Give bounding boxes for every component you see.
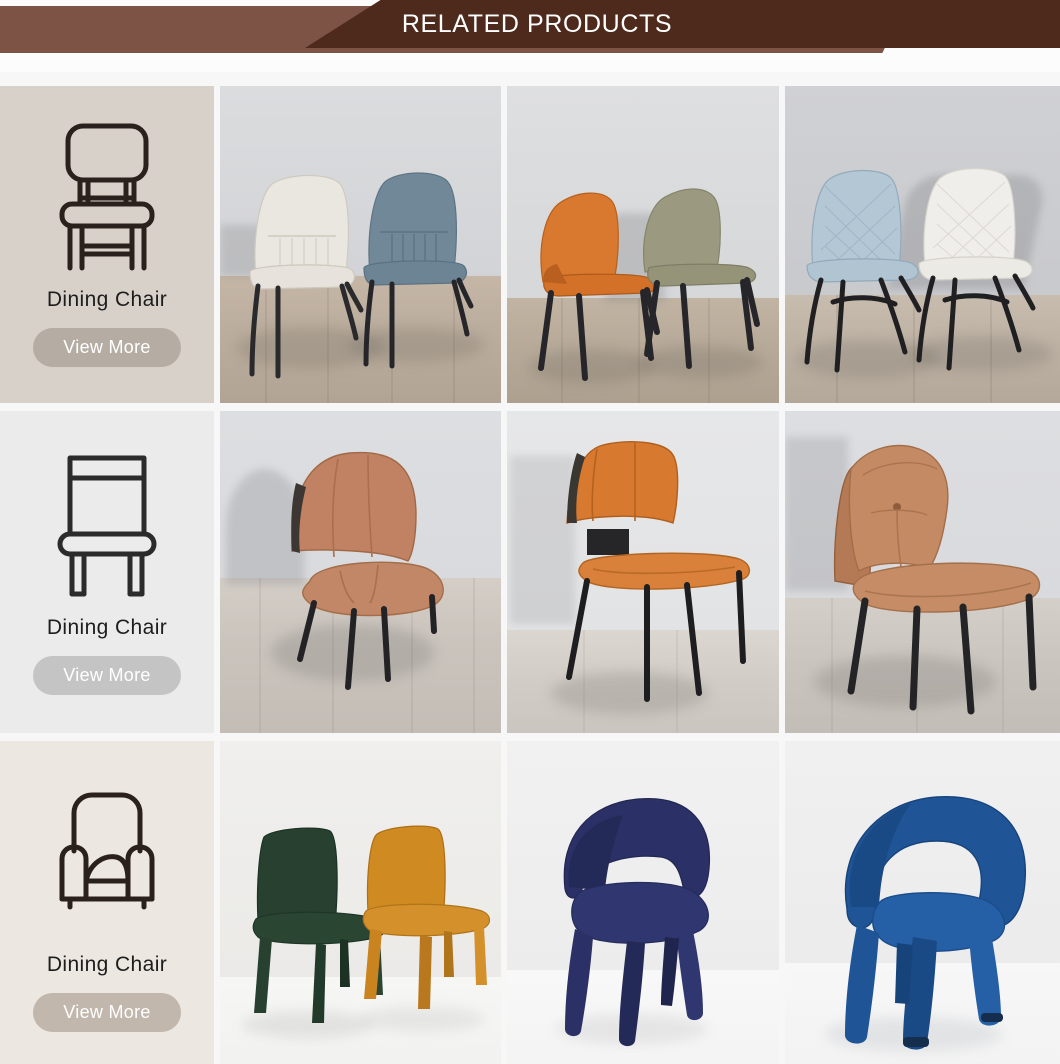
banner-title: RELATED PRODUCTS xyxy=(0,0,1060,48)
product-photo-orange-olive-chairs[interactable] xyxy=(507,86,779,403)
product-photo-green-mustard-velvet-chairs[interactable] xyxy=(220,741,501,1064)
product-photo-orange-floating-back-chair[interactable] xyxy=(507,411,779,733)
related-products-grid: Dining Chair View More xyxy=(0,72,1060,1064)
product-photo-blue-tubular-armchair[interactable] xyxy=(785,741,1060,1064)
view-more-button[interactable]: View More xyxy=(33,328,180,367)
view-more-button[interactable]: View More xyxy=(33,656,180,695)
category-label: Dining Chair xyxy=(47,953,167,977)
category-label: Dining Chair xyxy=(47,616,167,640)
armchair-icon xyxy=(54,787,160,939)
product-photo-tan-shell-back-chair[interactable] xyxy=(220,411,501,733)
product-photo-blue-white-quilted-chairs[interactable] xyxy=(785,86,1060,403)
dining-chair-square-back-icon xyxy=(54,450,160,602)
product-photo-cream-blue-chairs[interactable] xyxy=(220,86,501,403)
dining-chair-slat-back-icon xyxy=(54,122,160,274)
category-card-2[interactable]: Dining Chair View More xyxy=(0,411,214,733)
category-label: Dining Chair xyxy=(47,288,167,312)
view-more-button[interactable]: View More xyxy=(33,993,180,1032)
product-photo-tan-button-tufted-chair[interactable] xyxy=(785,411,1060,733)
category-card-1[interactable]: Dining Chair View More xyxy=(0,86,214,403)
category-card-3[interactable]: Dining Chair View More xyxy=(0,741,214,1064)
product-photo-navy-wraparound-chair[interactable] xyxy=(507,741,779,1064)
related-products-banner: RELATED PRODUCTS xyxy=(0,0,1060,72)
